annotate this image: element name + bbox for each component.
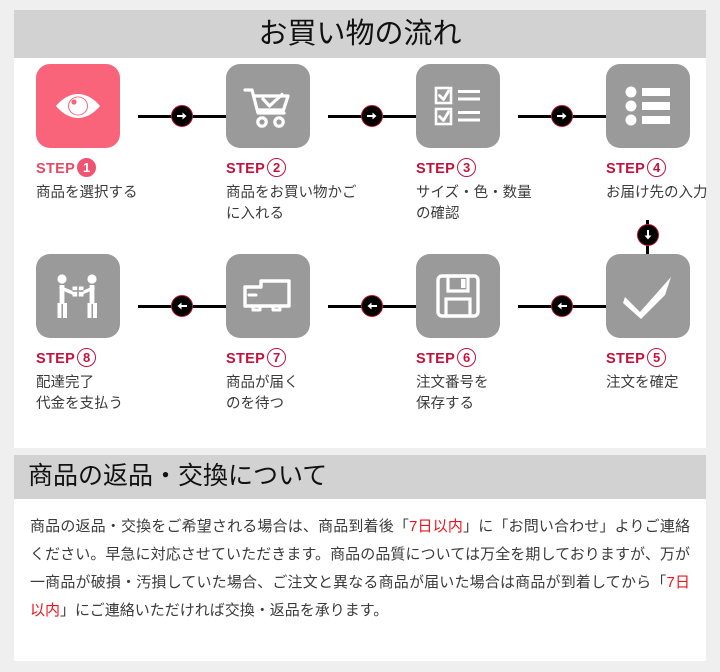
checkmark-icon: [621, 273, 675, 319]
shopping-cart-icon: [241, 79, 295, 133]
step-4-label: STEP 4: [606, 158, 720, 180]
shopping-flow-page: お買い物の流れ: [0, 0, 720, 672]
step-3-description: サイズ・色・数量 の確認: [416, 183, 576, 225]
step-8-label: STEP 8: [36, 348, 196, 370]
step-2-tile: [226, 64, 310, 148]
delivery-truck-icon: [240, 275, 296, 317]
checklist-icon: [433, 84, 483, 128]
step-7-label: STEP 7: [226, 348, 386, 370]
step-6-description: 注文番号を 保存する: [416, 373, 576, 415]
step-6-number: 6: [457, 348, 476, 367]
step-8[interactable]: STEP 8 配達完了 代金を支払う: [36, 254, 196, 415]
step-1-word: STEP: [36, 161, 75, 177]
step-1-tile: [36, 64, 120, 148]
step-5-tile: [606, 254, 690, 338]
step-5-number: 5: [647, 348, 666, 367]
step-7[interactable]: STEP 7 商品が届く のを待つ: [226, 254, 386, 415]
step-1-number: 1: [77, 158, 96, 177]
step-7-description: 商品が届く のを待つ: [226, 373, 386, 415]
step-1-description: 商品を選択する: [36, 183, 196, 204]
returns-text-0: 商品の返品・交換をご希望される場合は、商品到着後「: [30, 518, 409, 535]
step-7-number: 7: [267, 348, 286, 367]
returns-policy-panel: 商品の返品・交換をご希望される場合は、商品到着後「7日以内」に「お問い合わせ」よ…: [14, 499, 706, 661]
step-2-word: STEP: [226, 161, 265, 177]
step-8-tile: [36, 254, 120, 338]
flow-diagram-panel: STEP 1 商品を選択する STEP: [14, 58, 706, 448]
step-2-description: 商品をお買い物かご に入れる: [226, 183, 386, 225]
step-7-tile: [226, 254, 310, 338]
step-4-tile: [606, 64, 690, 148]
step-7-word: STEP: [226, 351, 265, 367]
step-4-number: 4: [647, 158, 666, 177]
eye-icon: [52, 80, 104, 132]
step-6-word: STEP: [416, 351, 455, 367]
step-3-number: 3: [457, 158, 476, 177]
step-8-description: 配達完了 代金を支払う: [36, 373, 196, 415]
step-2[interactable]: STEP 2 商品をお買い物かご に入れる: [226, 64, 386, 225]
returns-highlight-1: 7日以内: [409, 518, 463, 535]
bullet-list-icon: [623, 85, 673, 127]
returns-section-title: 商品の返品・交換について: [14, 455, 706, 499]
step-6[interactable]: STEP 6 注文番号を 保存する: [416, 254, 576, 415]
step-2-number: 2: [267, 158, 286, 177]
handover-package-icon: [50, 271, 106, 321]
step-5-label: STEP 5: [606, 348, 720, 370]
step-3[interactable]: STEP 3 サイズ・色・数量 の確認: [416, 64, 576, 225]
step-6-label: STEP 6: [416, 348, 576, 370]
step-1[interactable]: STEP 1 商品を選択する: [36, 64, 196, 204]
flow-row-forward: STEP 1 商品を選択する STEP: [14, 64, 706, 244]
returns-text-4: 」にご連絡いただければ交換・返品を承ります。: [60, 602, 388, 619]
step-4[interactable]: STEP 4 お届け先の入力: [606, 64, 720, 204]
step-8-number: 8: [77, 348, 96, 367]
step-2-label: STEP 2: [226, 158, 386, 180]
floppy-disk-save-icon: [434, 272, 482, 320]
returns-policy-text: 商品の返品・交換をご希望される場合は、商品到着後「7日以内」に「お問い合わせ」よ…: [30, 513, 690, 625]
step-8-word: STEP: [36, 351, 75, 367]
step-4-description: お届け先の入力: [606, 183, 720, 204]
step-3-label: STEP 3: [416, 158, 576, 180]
flow-section-title: お買い物の流れ: [14, 10, 706, 58]
step-3-tile: [416, 64, 500, 148]
step-5[interactable]: STEP 5 注文を確定: [606, 254, 720, 394]
flow-row-backward: STEP 8 配達完了 代金を支払う STEP 7: [14, 254, 706, 434]
step-6-tile: [416, 254, 500, 338]
step-1-label: STEP 1: [36, 158, 196, 180]
step-4-word: STEP: [606, 161, 645, 177]
step-3-word: STEP: [416, 161, 455, 177]
step-5-description: 注文を確定: [606, 373, 720, 394]
arrow-down-badge: [637, 224, 659, 246]
step-5-word: STEP: [606, 351, 645, 367]
